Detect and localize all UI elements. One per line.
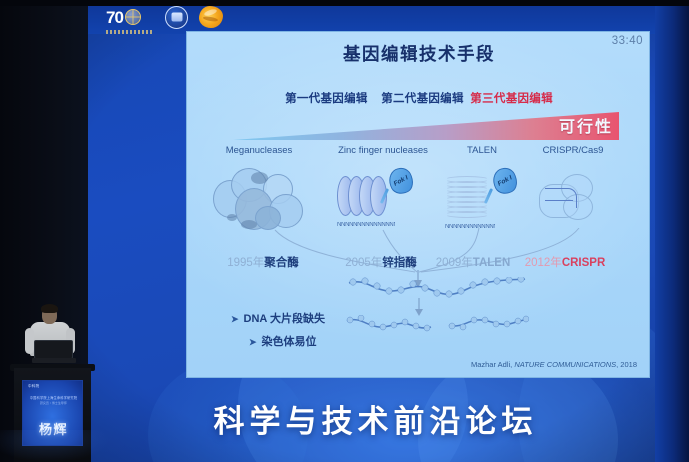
timeline-tech-value: 聚合酶 xyxy=(264,257,299,269)
technique-name-row: Meganucleases Zinc finger nucleases TALE… xyxy=(187,145,650,159)
dna-strand-fragment-right xyxy=(447,315,529,333)
technique-name-meganucleases: Meganucleases xyxy=(226,145,293,156)
fok-nuclease-icon: Fok I xyxy=(488,164,521,198)
talen-helix xyxy=(445,176,491,220)
crispr-cas9-icon xyxy=(539,174,619,236)
timeline-tech-value: TALEN xyxy=(473,257,510,269)
podium-affiliation-line-1: 中国科学院上海生命科学研究院 xyxy=(28,395,79,400)
timeline-year-value: 2012年 xyxy=(525,257,562,269)
laptop-base xyxy=(32,358,76,363)
stage-right-pillar xyxy=(655,0,689,462)
downward-arrow-icon xyxy=(407,298,431,318)
protein-shadow xyxy=(251,172,268,184)
chevron-right-icon: ➤ xyxy=(249,337,257,347)
technique-name-crispr: CRISPR/Cas9 xyxy=(543,145,604,156)
academy-emblem-logo xyxy=(165,6,188,29)
laptop-screen xyxy=(34,340,73,359)
citation-author: Mazhar Adli, xyxy=(471,360,514,369)
protein-lobe xyxy=(255,206,281,230)
generation-label-3: 第三代基因编辑 xyxy=(470,93,553,105)
slide-citation: Mazhar Adli, NATURE COMMUNICATIONS, 2018 xyxy=(471,360,637,369)
slide-title: 基因编辑技术手段 xyxy=(187,41,650,66)
timeline-entry-1995: 1995年聚合酶 xyxy=(227,254,299,270)
globe-icon xyxy=(125,9,141,25)
bullet-label: 染色体易位 xyxy=(262,336,317,348)
technique-name-talen: TALEN xyxy=(467,145,497,156)
bullet-item: ➤染色体易位 xyxy=(249,333,325,349)
fok-label: Fok I xyxy=(497,174,514,187)
timeline-year-row: 1995年聚合酶 2005年锌指酶 2009年TALEN 2012年CRISPR xyxy=(187,254,650,274)
auditorium-top-dark xyxy=(0,0,689,6)
guide-rna-path xyxy=(545,200,573,201)
helix-turn xyxy=(445,211,489,218)
generation-label-row: 第一代基因编辑 第二代基因编辑 第三代基因编辑 xyxy=(187,90,650,106)
timeline-entry-2012: 2012年CRISPR xyxy=(525,254,606,270)
dna-strand-main xyxy=(347,277,527,299)
guide-rna-path xyxy=(545,188,577,208)
conference-hall-scene: 70 33:40 基因编辑技术手段 第一代基因编辑 第二代基因编辑 第三代基因编… xyxy=(0,0,689,462)
anniversary-number: 70 xyxy=(106,9,123,26)
timeline-year-value: 1995年 xyxy=(227,257,264,269)
generation-label-1: 第一代基因编辑 xyxy=(285,93,368,105)
fok-label: Fok I xyxy=(393,174,410,187)
speaker-hair xyxy=(41,304,58,313)
timeline-tech-value: CRISPR xyxy=(562,257,605,269)
citation-journal: NATURE COMMUNICATIONS xyxy=(514,360,616,369)
projected-slide: 33:40 基因编辑技术手段 第一代基因编辑 第二代基因编辑 第三代基因编辑 可… xyxy=(186,31,650,378)
anniversary-subtitle-bar xyxy=(106,30,154,34)
timeline-entry-2005: 2005年锌指酶 xyxy=(345,254,417,270)
generation-label-2: 第二代基因编辑 xyxy=(381,93,464,105)
timeline-entry-2009: 2009年TALEN xyxy=(436,254,511,270)
stage-floor-glow xyxy=(0,430,110,462)
timeline-year-value: 2009年 xyxy=(436,257,473,269)
podium-affiliation-line-2: 研究员 / 博士生导师 xyxy=(28,401,79,405)
speaker-arm-left xyxy=(25,328,34,354)
timeline-year-value: 2005年 xyxy=(345,257,382,269)
bullet-item: ➤DNA 大片段缺失 xyxy=(231,310,325,326)
timeline-tech-value: 锌指酶 xyxy=(382,257,417,269)
bullet-label: DNA 大片段缺失 xyxy=(244,313,325,325)
podium-org-logo: 中科院 xyxy=(28,384,39,389)
citation-year: , 2018 xyxy=(616,360,637,369)
forum-banner-title: 科学与技术前沿论坛 xyxy=(88,396,663,441)
technique-name-zinc-finger: Zinc finger nucleases xyxy=(338,145,428,156)
feasibility-gradient-bar: 可行性 xyxy=(233,112,619,140)
feasibility-label: 可行性 xyxy=(559,113,613,137)
protein-shadow xyxy=(227,214,237,221)
chevron-right-icon: ➤ xyxy=(231,314,239,324)
fok-nuclease-icon: Fok I xyxy=(384,164,417,198)
outcome-bullet-list: ➤DNA 大片段缺失 ➤染色体易位 xyxy=(231,310,325,356)
anniversary-70-logo: 70 xyxy=(106,5,154,29)
golden-dragon-logo xyxy=(199,6,223,28)
meganuclease-protein-icon xyxy=(211,164,311,236)
